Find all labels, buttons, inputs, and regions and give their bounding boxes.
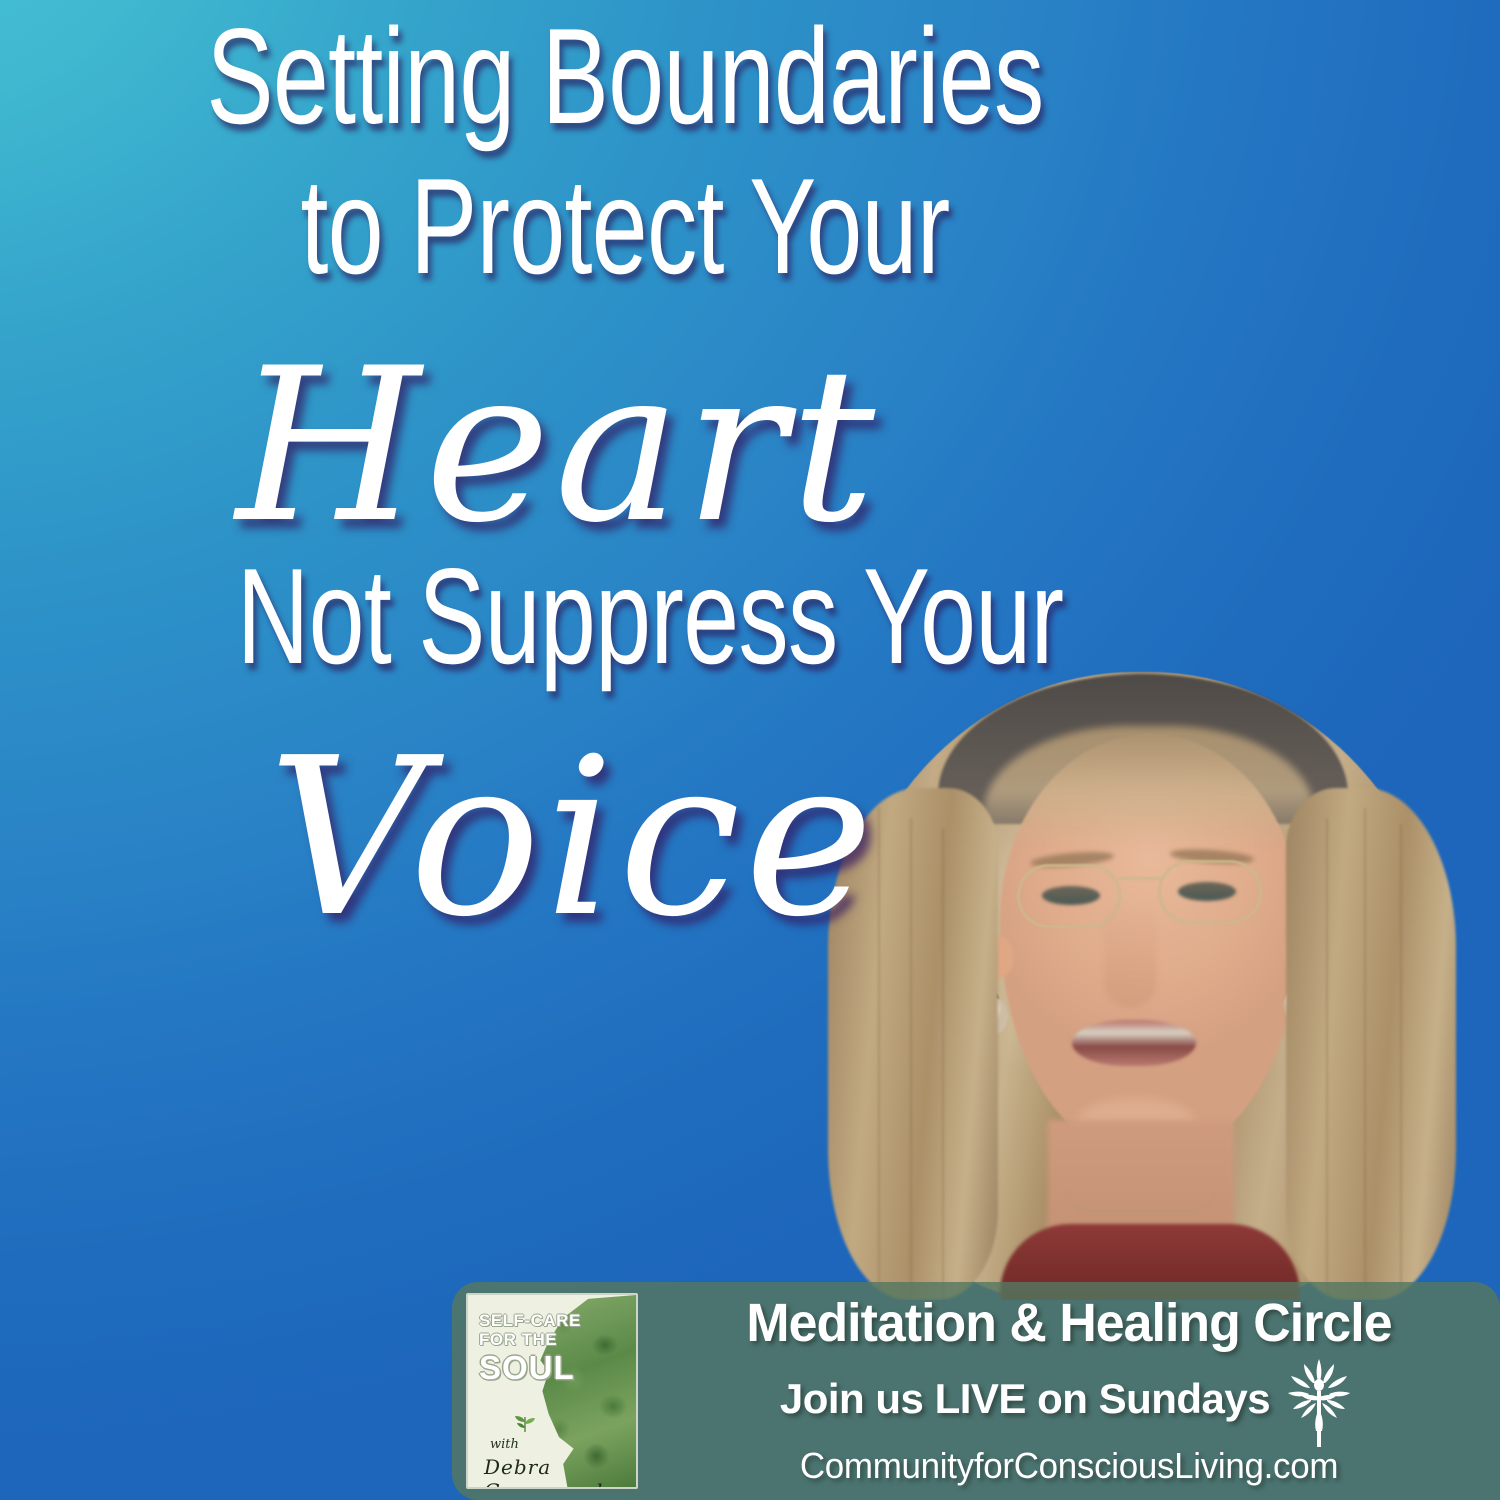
video-thumbnail: Setting Boundaries to Protect Your Heart… xyxy=(0,0,1500,1500)
hair-strand xyxy=(910,818,912,1298)
mouth xyxy=(1072,1020,1196,1066)
cover-with-label: with xyxy=(490,1437,519,1452)
banner-subtitle: Join us LIVE on Sundays xyxy=(780,1377,1270,1422)
hair-strand xyxy=(1400,824,1402,1300)
headline-script-heart: Heart xyxy=(236,322,879,569)
headline-line-3: Not Suppress Your xyxy=(169,548,1131,684)
hair-front-left xyxy=(828,788,998,1300)
hair-strand xyxy=(942,828,944,1300)
cover-author-name: Debra Graugnard xyxy=(484,1455,636,1489)
hair-front-right xyxy=(1286,788,1456,1300)
hair-strand xyxy=(878,808,880,1288)
banner-text-block: Meditation & Healing Circle Join us LIVE… xyxy=(638,1296,1494,1485)
leaf-sprig-icon xyxy=(512,1413,538,1433)
headline-line-1: Setting Boundaries xyxy=(163,8,1088,144)
cover-line-2: FOR THE xyxy=(479,1330,636,1349)
cover-title-block: SELF-CARE FOR THE SOUL xyxy=(468,1295,636,1386)
presenter-photo xyxy=(786,668,1500,1300)
tree-of-life-icon xyxy=(1280,1351,1358,1447)
necklace xyxy=(1066,1190,1216,1212)
podcast-cover-art: SELF-CARE FOR THE SOUL with Debra Graugn… xyxy=(466,1293,638,1489)
cover-line-3: SOUL xyxy=(479,1350,636,1386)
hair-strand xyxy=(1326,818,1328,1298)
banner-website: CommunityforConsciousLiving.com xyxy=(657,1447,1482,1485)
cover-line-1: SELF-CARE xyxy=(479,1311,636,1330)
nose xyxy=(1104,904,1156,1008)
banner-title: Meditation & Healing Circle xyxy=(661,1296,1477,1351)
hair-strand xyxy=(1364,808,1366,1288)
headline-line-2: to Protect Your xyxy=(163,158,1088,294)
eyeglass-lens-right xyxy=(1158,860,1262,924)
promo-banner: SELF-CARE FOR THE SOUL with Debra Graugn… xyxy=(452,1282,1500,1500)
eyeglass-bridge xyxy=(1119,877,1163,880)
